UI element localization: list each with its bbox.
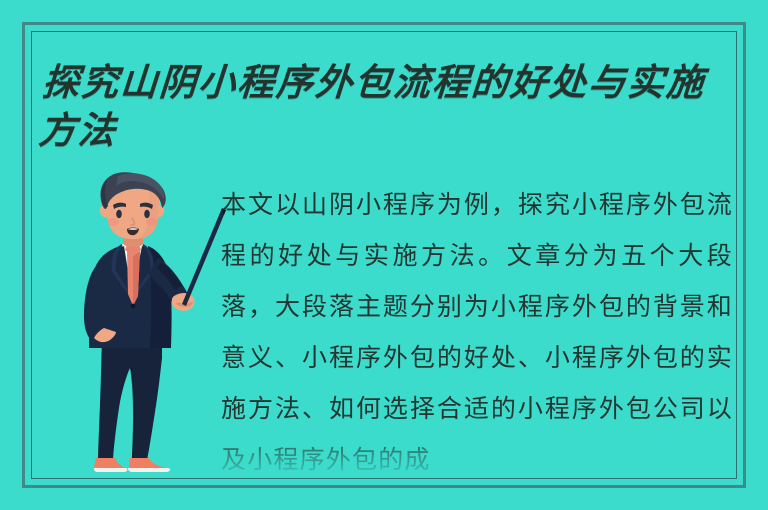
poster-canvas: 探究山阴小程序外包流程的好处与实施方法 本文以山阴小程序为例，探究小程序外包流程… [0,0,768,510]
article-summary-text: 本文以山阴小程序为例，探究小程序外包流程的好处与实施方法。文章分为五个大段落，大… [221,179,733,479]
businessman-illustration [58,172,228,477]
page-title: 探究山阴小程序外包流程的好处与实施方法 [37,58,732,154]
